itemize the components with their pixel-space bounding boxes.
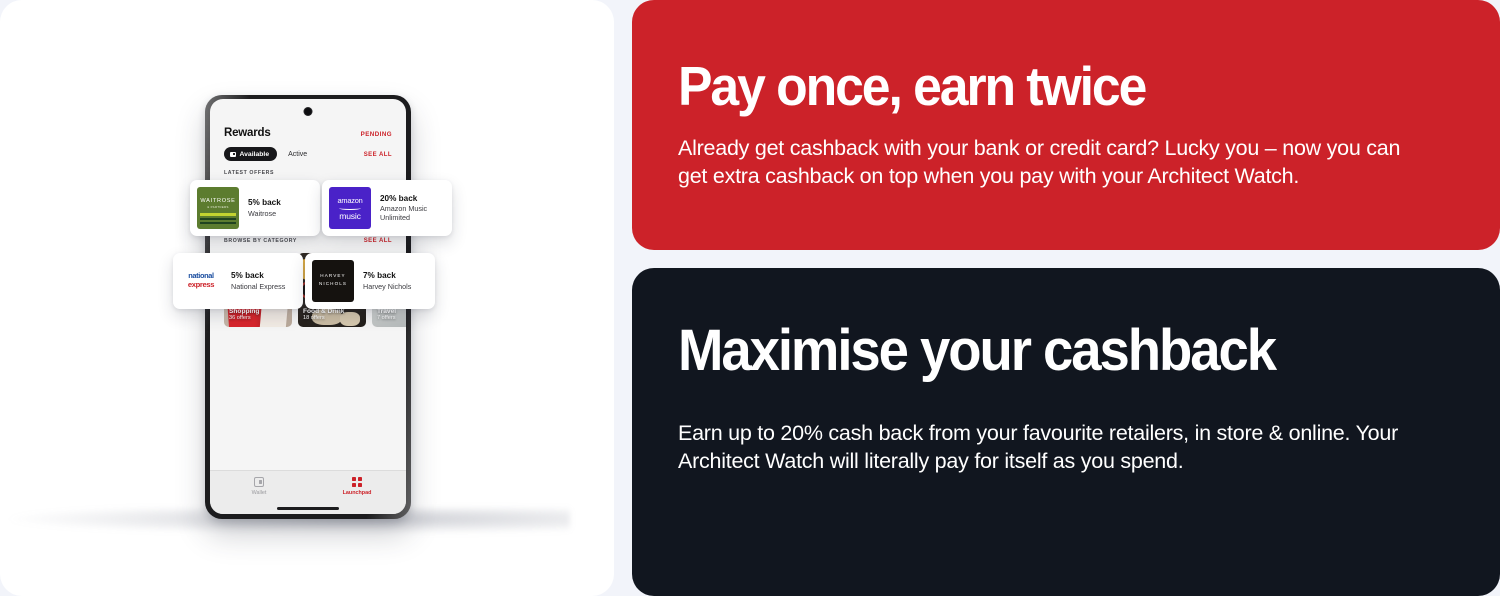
offer-merchant: Waitrose: [248, 209, 281, 218]
category-caption: Shopping 36 offers: [229, 308, 259, 322]
offer-merchant: Harvey Nichols: [363, 282, 411, 291]
national-express-logo-line1: national: [180, 271, 222, 280]
section-heading-browse-by-category: BROWSE BY CATEGORY: [224, 238, 297, 244]
marketing-feature-layout: Rewards PENDING Available Active SEE ALL…: [0, 0, 1500, 596]
amazon-music-logo: amazon music: [329, 187, 371, 229]
see-all-offers-link[interactable]: SEE ALL: [364, 152, 392, 158]
waitrose-logo-wordmark: WAITROSE: [197, 198, 239, 204]
offer-text: 20% back Amazon Music Unlimited: [371, 194, 445, 223]
waitrose-logo-subtext: & PARTNERS: [197, 205, 239, 209]
nav-item-launchpad[interactable]: Launchpad: [322, 477, 392, 496]
tab-available[interactable]: Available: [224, 147, 277, 161]
section-heading-latest-offers: LATEST OFFERS: [210, 161, 406, 176]
category-caption: Travel 7 offers: [377, 308, 396, 322]
offer-text: 5% back Waitrose: [239, 198, 281, 217]
offer-card-amazon-music[interactable]: amazon music 20% back Amazon Music Unlim…: [322, 180, 452, 236]
wallet-icon: [230, 152, 236, 157]
page-title: Rewards: [224, 127, 271, 139]
bottom-navigation: Wallet Launchpad: [210, 470, 406, 514]
wallet-icon: [254, 477, 264, 487]
pay-once-earn-twice-panel: Pay once, earn twice Already get cashbac…: [632, 0, 1500, 250]
offer-percent: 5% back: [231, 271, 285, 281]
see-all-categories-link[interactable]: SEE ALL: [364, 238, 392, 244]
tab-active[interactable]: Active: [288, 151, 307, 158]
harvey-nichols-logo: HARVEY NICHOLS: [312, 260, 354, 302]
amazon-logo-wordmark: amazon: [329, 196, 371, 205]
nav-item-wallet-label: Wallet: [252, 490, 267, 496]
panel-heading: Maximise your cashback: [678, 322, 1407, 380]
status-badge: PENDING: [361, 131, 392, 138]
offer-card-harvey-nichols[interactable]: HARVEY NICHOLS 7% back Harvey Nichols: [305, 253, 435, 309]
offer-percent: 5% back: [248, 198, 281, 208]
offer-card-waitrose[interactable]: WAITROSE & PARTNERS 5% back Waitrose: [190, 180, 320, 236]
offer-text: 5% back National Express: [222, 271, 285, 290]
maximise-your-cashback-panel: Maximise your cashback Earn up to 20% ca…: [632, 268, 1500, 596]
marketing-panels-column: Pay once, earn twice Already get cashbac…: [632, 0, 1500, 596]
offer-card-national-express[interactable]: national express 5% back National Expres…: [173, 253, 303, 309]
national-express-logo: national express: [180, 260, 222, 302]
offer-tabs: Available Active SEE ALL: [210, 139, 406, 161]
harvey-nichols-logo-line1: HARVEY: [312, 273, 354, 278]
category-offer-count: 7 offers: [377, 315, 396, 322]
offer-text: 7% back Harvey Nichols: [354, 271, 411, 290]
home-indicator: [277, 507, 339, 510]
nav-item-launchpad-label: Launchpad: [343, 490, 372, 496]
national-express-logo-line2: express: [180, 280, 222, 289]
offer-percent: 7% back: [363, 271, 411, 281]
screen-header: Rewards PENDING: [210, 99, 406, 139]
category-offer-count: 18 offers: [303, 315, 344, 322]
category-offer-count: 36 offers: [229, 315, 259, 322]
grid-icon: [352, 477, 362, 487]
category-caption: Food & Drink 18 offers: [303, 308, 344, 322]
offer-percent: 20% back: [380, 194, 445, 204]
panel-body-text: Already get cashback with your bank or c…: [678, 135, 1418, 191]
harvey-nichols-logo-line2: NICHOLS: [312, 281, 354, 286]
offer-merchant: National Express: [231, 282, 285, 291]
waitrose-logo: WAITROSE & PARTNERS: [197, 187, 239, 229]
front-camera-icon: [304, 107, 313, 116]
tab-available-label: Available: [240, 151, 270, 158]
nav-item-wallet[interactable]: Wallet: [224, 477, 294, 496]
panel-heading: Pay once, earn twice: [678, 59, 1407, 114]
panel-body-text: Earn up to 20% cash back from your favou…: [678, 420, 1418, 476]
amazon-smile-icon: [339, 207, 361, 210]
amazon-logo-subtext: music: [329, 211, 371, 221]
offer-merchant: Amazon Music Unlimited: [380, 204, 445, 222]
product-screenshot-card: Rewards PENDING Available Active SEE ALL…: [0, 0, 614, 596]
